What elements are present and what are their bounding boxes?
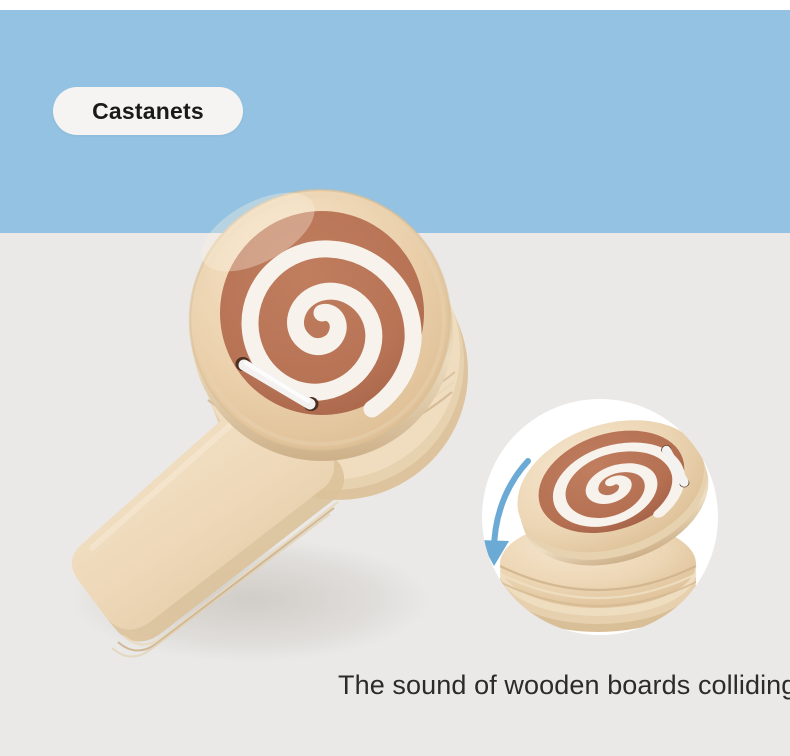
product-feature-page: Castanets bbox=[0, 0, 790, 756]
feature-caption: The sound of wooden boards colliding bbox=[338, 670, 778, 701]
inset-scene-svg bbox=[0, 0, 790, 756]
zoom-detail-bubble bbox=[470, 392, 720, 642]
